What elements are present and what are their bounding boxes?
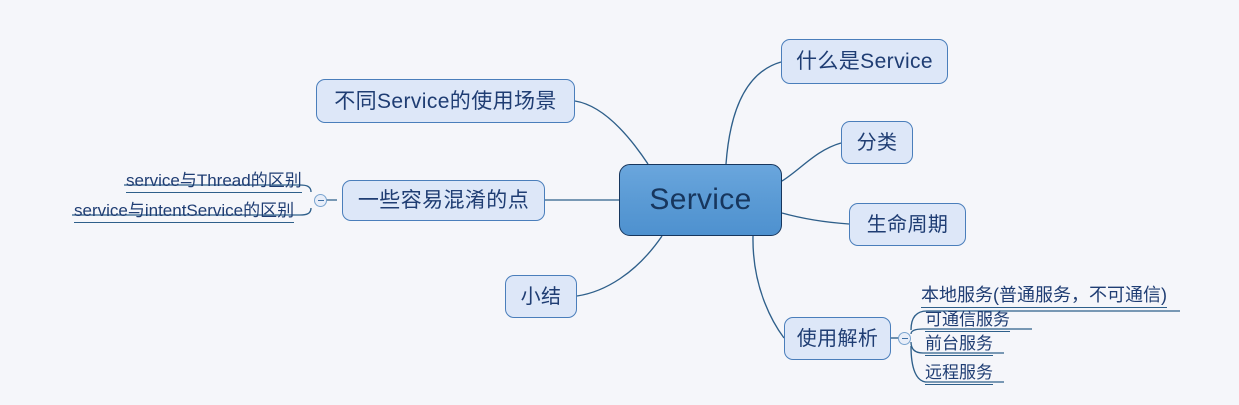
node-what-is-service[interactable]: 什么是Service [781, 39, 948, 84]
edge-usage-analysis [753, 236, 784, 338]
edge-categories [782, 143, 841, 181]
leaf-foreground-service[interactable]: 前台服务 [925, 335, 993, 356]
leaf-service-vs-intentservice-label: service与intentService的区别 [74, 201, 294, 220]
leaf-service-vs-thread-label: service与Thread的区别 [126, 171, 302, 190]
node-lifecycle-label: 生命周期 [867, 215, 949, 235]
leaf-service-vs-intentservice[interactable]: service与intentService的区别 [74, 202, 294, 223]
node-lifecycle[interactable]: 生命周期 [849, 203, 966, 246]
root-node-label: Service [649, 185, 751, 215]
leaf-service-vs-thread[interactable]: service与Thread的区别 [126, 172, 302, 193]
node-categories[interactable]: 分类 [841, 121, 913, 164]
leaf-local-service-label: 本地服务(普通服务，不可通信) [921, 285, 1167, 305]
mindmap-canvas: Service 什么是Service 分类 生命周期 使用解析 小结 一些容易混… [0, 0, 1239, 405]
root-node[interactable]: Service [619, 164, 782, 236]
edge-usage-scenarios [575, 101, 648, 164]
leaf-communicable-service-label: 可通信服务 [925, 310, 1010, 329]
node-summary[interactable]: 小结 [505, 275, 577, 318]
leaf-foreground-service-label: 前台服务 [925, 334, 993, 353]
node-usage-scenarios[interactable]: 不同Service的使用场景 [316, 79, 575, 123]
leaf-local-service[interactable]: 本地服务(普通服务，不可通信) [921, 286, 1167, 308]
node-what-is-service-label: 什么是Service [796, 51, 933, 72]
node-usage-analysis[interactable]: 使用解析 [784, 317, 891, 360]
leaf-remote-service-label: 远程服务 [925, 363, 993, 382]
leaf-remote-service[interactable]: 远程服务 [925, 364, 993, 385]
node-usage-analysis-label: 使用解析 [797, 329, 879, 349]
edge-what-is-service [726, 62, 781, 164]
node-confusing-points-label: 一些容易混淆的点 [358, 190, 529, 211]
edge-lifecycle [782, 213, 849, 224]
node-categories-label: 分类 [857, 133, 898, 153]
edge-summary [577, 236, 662, 296]
toggle-usage-analysis[interactable] [898, 332, 911, 345]
node-summary-label: 小结 [521, 287, 562, 307]
node-confusing-points[interactable]: 一些容易混淆的点 [342, 180, 545, 221]
node-usage-scenarios-label: 不同Service的使用场景 [334, 91, 557, 112]
leaf-communicable-service[interactable]: 可通信服务 [925, 311, 1010, 332]
toggle-confusing-points[interactable] [314, 194, 327, 207]
